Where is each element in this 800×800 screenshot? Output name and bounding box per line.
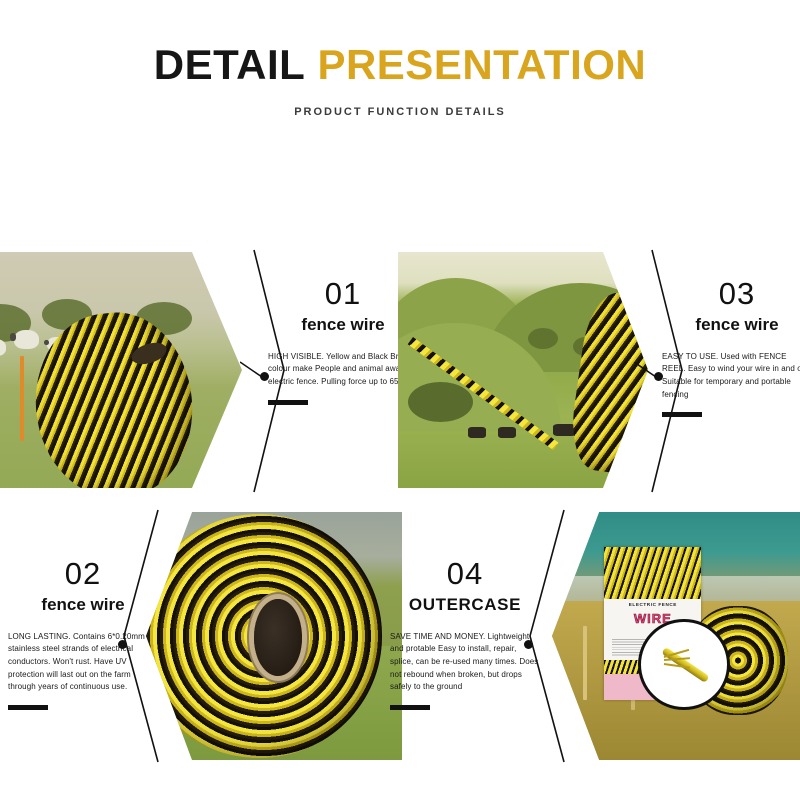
panel-02-connector-dot <box>118 640 127 649</box>
panel-01-heading: fence wire <box>268 316 418 335</box>
panel-03-rule <box>662 412 702 417</box>
panel-01-text: 01 fence wire HIGH VISIBLE. Yellow and B… <box>268 278 418 405</box>
magnifier-inset <box>638 619 730 711</box>
panel-02-photo <box>146 512 402 760</box>
page-title-gold: PRESENTATION <box>317 41 646 88</box>
panel-04-number: 04 <box>390 558 540 589</box>
panel-02-number: 02 <box>8 558 158 589</box>
panel-04-connector-dot <box>524 640 533 649</box>
label-wire-texture-top <box>604 547 701 599</box>
cow-shape <box>553 424 576 436</box>
panel-03-number: 03 <box>662 278 800 309</box>
panel-02-heading: fence wire <box>8 596 158 615</box>
page-title: DETAIL PRESENTATION <box>0 44 800 86</box>
panel-01-rule <box>268 400 308 405</box>
panel-04-photo: ELECTRIC FENCE WIRE <box>552 512 800 760</box>
panel-04-rule <box>390 705 430 710</box>
detail-presentation-page: DETAIL PRESENTATION PRODUCT FUNCTION DET… <box>0 0 800 800</box>
panel-03-photo <box>398 252 648 488</box>
panel-03-heading: fence wire <box>662 316 800 335</box>
fence-post-shape <box>583 626 587 700</box>
tree-shape <box>408 382 473 422</box>
panel-01-photo <box>0 252 242 488</box>
panel-01-body: HIGH VISIBLE. Yellow and Black Bright co… <box>268 351 418 389</box>
cow-shape <box>498 427 516 439</box>
page-subtitle: PRODUCT FUNCTION DETAILS <box>0 106 800 118</box>
panel-04-body: SAVE TIME AND MONEY. Lightweight and pro… <box>390 631 540 694</box>
panel-03-body: EASY TO USE. Used with FENCE REEL. Easy … <box>662 351 800 402</box>
panel-04-text: 04 OUTERCASE SAVE TIME AND MONEY. Lightw… <box>390 558 540 710</box>
label-line-1: ELECTRIC FENCE <box>604 602 701 607</box>
panel-02-rule <box>8 705 48 710</box>
wire-spool-core-hole <box>254 599 303 676</box>
panel-01-number: 01 <box>268 278 418 309</box>
page-title-dark: DETAIL <box>154 41 306 88</box>
sheep-shape <box>14 330 39 349</box>
page-header: DETAIL PRESENTATION PRODUCT FUNCTION DET… <box>0 44 800 118</box>
panel-04-heading: OUTERCASE <box>390 596 540 615</box>
cow-shape <box>468 427 486 439</box>
tree-shape <box>528 328 558 349</box>
panel-03-text: 03 fence wire EASY TO USE. Used with FEN… <box>662 278 800 417</box>
fence-post-shape <box>20 356 24 441</box>
